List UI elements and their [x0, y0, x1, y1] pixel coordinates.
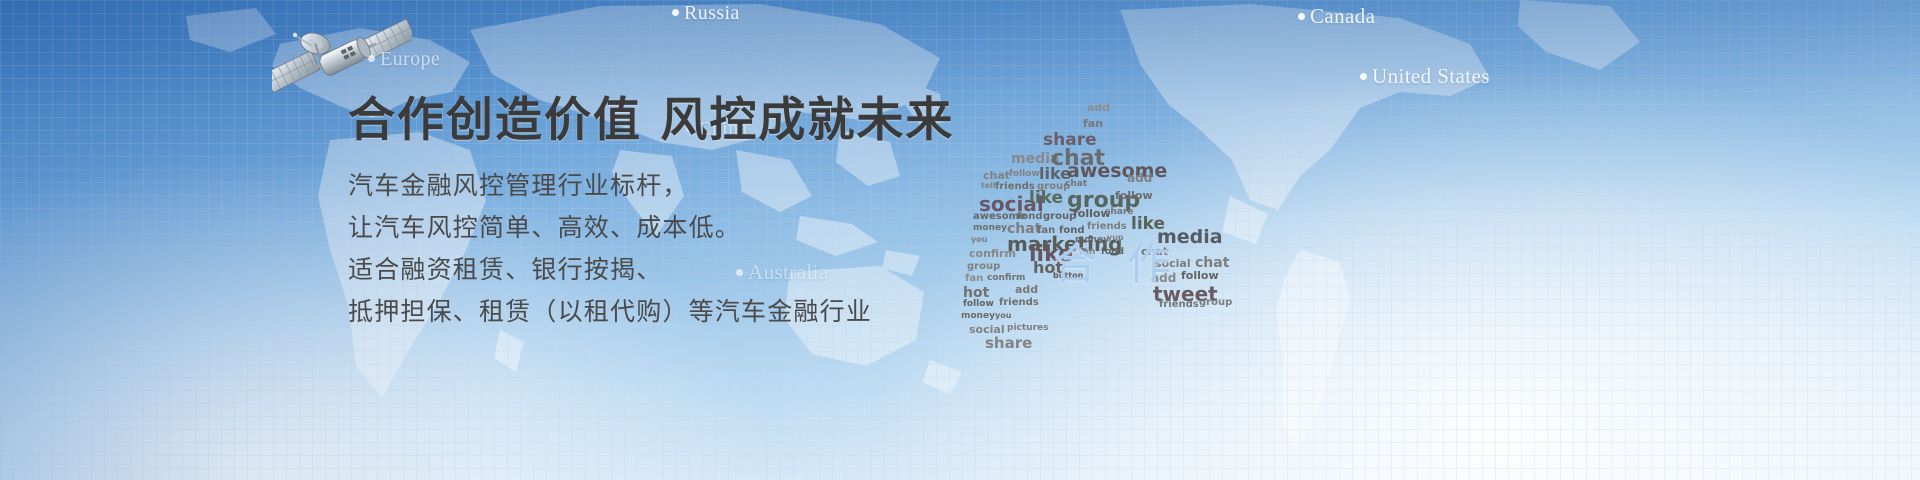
- promotional-banner: Russia Europe Canada United States China…: [0, 0, 1920, 480]
- word-cloud-overlay-label: 合 作: [1053, 228, 1179, 292]
- word-cloud-word: group: [1043, 212, 1076, 222]
- map-label-russia: Russia: [672, 2, 740, 25]
- body-line-2: 让汽车风控简单、高效、成本低。: [348, 207, 954, 249]
- map-pin-dot-canada: [1298, 13, 1305, 20]
- word-cloud-word: follow: [1115, 190, 1153, 201]
- word-cloud-word: chat: [1195, 256, 1229, 270]
- word-cloud-word: friends: [999, 298, 1039, 308]
- word-cloud-word: add: [1087, 102, 1110, 113]
- word-cloud-word: hot: [963, 286, 989, 300]
- word-cloud-word: you: [995, 312, 1011, 320]
- body-line-3: 适合融资租赁、银行按揭、: [348, 249, 954, 291]
- word-cloud-word: follow: [1009, 170, 1040, 179]
- word-cloud-word: follow: [963, 300, 994, 309]
- word-cloud-word: add: [1015, 284, 1038, 295]
- word-cloud-word: group: [1199, 298, 1232, 308]
- word-cloud-words: addfansharemediachatchatfollowlikeawesom…: [955, 0, 1285, 380]
- word-cloud-word: money: [961, 312, 995, 321]
- body-line-4: 抵押担保、租赁（以租代购）等汽车金融行业: [348, 291, 954, 333]
- map-label-canada: Canada: [1298, 4, 1375, 29]
- word-cloud-word: friends: [1159, 300, 1199, 310]
- word-cloud-word: chat: [983, 170, 1010, 181]
- word-cloud-word: confirm: [969, 248, 1016, 259]
- body-line-1: 汽车金融风控管理行业标杆，: [348, 165, 954, 207]
- map-label-united-states: United States: [1360, 64, 1490, 89]
- word-cloud-word: money: [973, 224, 1007, 233]
- map-pin-dot-united-states: [1360, 73, 1367, 80]
- map-pin-dot-russia: [672, 9, 679, 16]
- word-cloud-word: follow: [1181, 270, 1219, 281]
- word-cloud-word: tell: [981, 182, 996, 190]
- thumbs-up-word-cloud: addfansharemediachatchatfollowlikeawesom…: [955, 0, 1285, 380]
- word-cloud-word: share: [1105, 208, 1133, 217]
- word-cloud-word: like: [1029, 190, 1063, 207]
- word-cloud-word: group: [967, 262, 1000, 272]
- word-cloud-word: you: [971, 236, 987, 244]
- map-pin-dot-europe: [368, 55, 375, 62]
- word-cloud-word: share: [985, 336, 1032, 351]
- word-cloud-word: add: [1127, 172, 1152, 184]
- word-cloud-word: pictures: [1007, 324, 1048, 333]
- banner-headline: 合作创造价值 风控成就未来: [348, 96, 954, 147]
- banner-body-lines: 汽车金融风控管理行业标杆， 让汽车风控简单、高效、成本低。 适合融资租赁、银行按…: [348, 165, 954, 333]
- map-label-europe: Europe: [368, 48, 440, 71]
- word-cloud-word: confirm: [987, 274, 1025, 283]
- word-cloud-word: fan: [1083, 118, 1103, 129]
- word-cloud-word: fan: [965, 274, 983, 284]
- banner-copy-block: 合作创造价值 风控成就未来 汽车金融风控管理行业标杆， 让汽车风控简单、高效、成…: [348, 96, 954, 333]
